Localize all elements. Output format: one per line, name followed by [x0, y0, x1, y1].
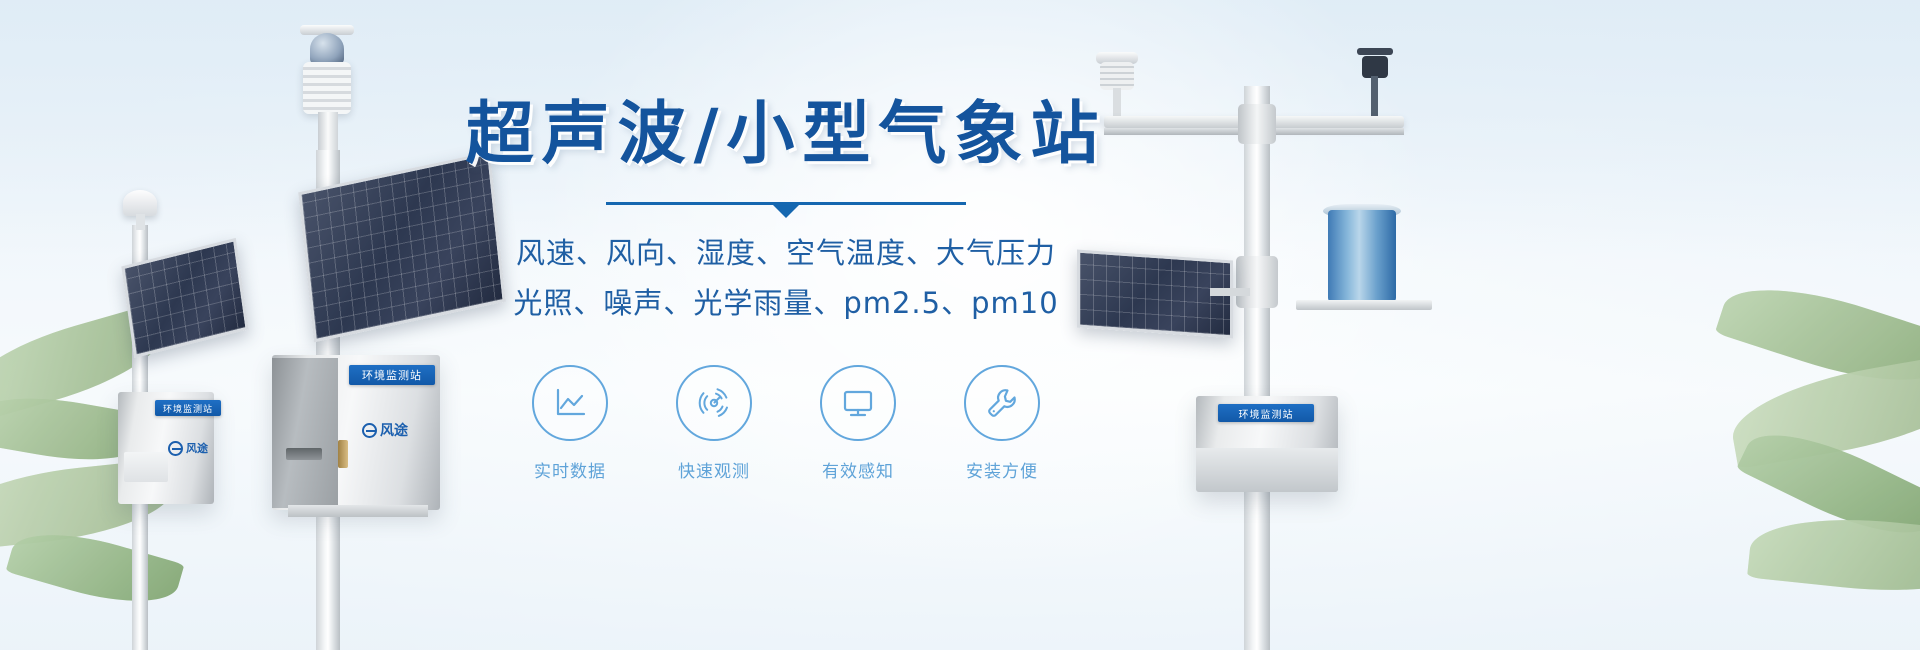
- mast-joint: [1238, 104, 1276, 144]
- brand-name: 风途: [186, 440, 208, 456]
- radiation-shield-sensor: [303, 62, 351, 114]
- dome-sensor: [310, 33, 344, 65]
- feature-icon-circle: [820, 365, 896, 441]
- subtitle-line-2: 光照、噪声、光学雨量、pm2.5、pm10: [436, 279, 1136, 329]
- feature-label: 安装方便: [966, 457, 1038, 482]
- equipment-shelf: [1296, 300, 1432, 310]
- rain-gauge: [1328, 210, 1396, 302]
- cabinet-nameplate: 环境监测站: [1218, 404, 1314, 422]
- feature-item-fast-observation[interactable]: 快速观测: [670, 365, 758, 482]
- cabinet-latch: [338, 440, 348, 468]
- feature-icon-circle: [532, 365, 608, 441]
- radiation-shield-sensor: [123, 190, 157, 216]
- product-banner: 环境监测站 风途 环境监测站 风途: [0, 0, 1920, 650]
- cabinet-door: [124, 452, 168, 482]
- feature-item-realtime-data[interactable]: 实时数据: [526, 365, 614, 482]
- banner-title: 超声波/小型气象站: [436, 96, 1136, 174]
- brand-logo: 风途: [168, 440, 208, 456]
- cabinet-nameplate: 环境监测站: [349, 365, 435, 385]
- cabinet-nameplate: 环境监测站: [155, 400, 221, 416]
- feature-icon-circle: [676, 365, 752, 441]
- feature-label: 实时数据: [534, 457, 606, 482]
- panel-bracket: [1210, 288, 1250, 296]
- feature-label: 有效感知: [822, 457, 894, 482]
- feature-item-effective-sensing[interactable]: 有效感知: [814, 365, 902, 482]
- sensor-neck: [136, 214, 145, 230]
- line-chart-icon: [550, 383, 590, 423]
- feature-icon-circle: [964, 365, 1040, 441]
- subtitle-line-1: 风速、风向、湿度、空气温度、大气压力: [436, 229, 1136, 279]
- mast-joint: [1236, 256, 1278, 308]
- sensor-neck: [318, 112, 338, 154]
- brand-logo: 风途: [362, 420, 408, 440]
- title-divider: [606, 202, 966, 205]
- brand-mark-icon: [168, 441, 183, 456]
- radiation-shield-sensor: [1100, 62, 1134, 90]
- cabinet-lower-section: [1196, 448, 1338, 492]
- banner-subtitle: 风速、风向、湿度、空气温度、大气压力 光照、噪声、光学雨量、pm2.5、pm10: [436, 229, 1136, 329]
- sensor-stem: [1371, 76, 1378, 120]
- feature-label: 快速观测: [678, 457, 750, 482]
- ultrasonic-wind-sensor: [1362, 56, 1388, 78]
- cabinet-base: [288, 505, 428, 517]
- banner-content: 超声波/小型气象站 风速、风向、湿度、空气温度、大气压力 光照、噪声、光学雨量、…: [436, 96, 1136, 482]
- sensor-arm: [1357, 48, 1393, 55]
- wrench-icon: [982, 383, 1022, 423]
- cabinet-side-panel: [272, 358, 338, 508]
- radar-scan-icon: [694, 383, 734, 423]
- monitor-icon: [838, 383, 878, 423]
- feature-list: 实时数据 快速观测: [436, 365, 1136, 482]
- brand-mark-icon: [362, 423, 377, 438]
- cabinet-vent: [286, 448, 322, 460]
- feature-item-easy-install[interactable]: 安装方便: [958, 365, 1046, 482]
- brand-name: 风途: [380, 420, 408, 440]
- station-mast: [1244, 86, 1270, 650]
